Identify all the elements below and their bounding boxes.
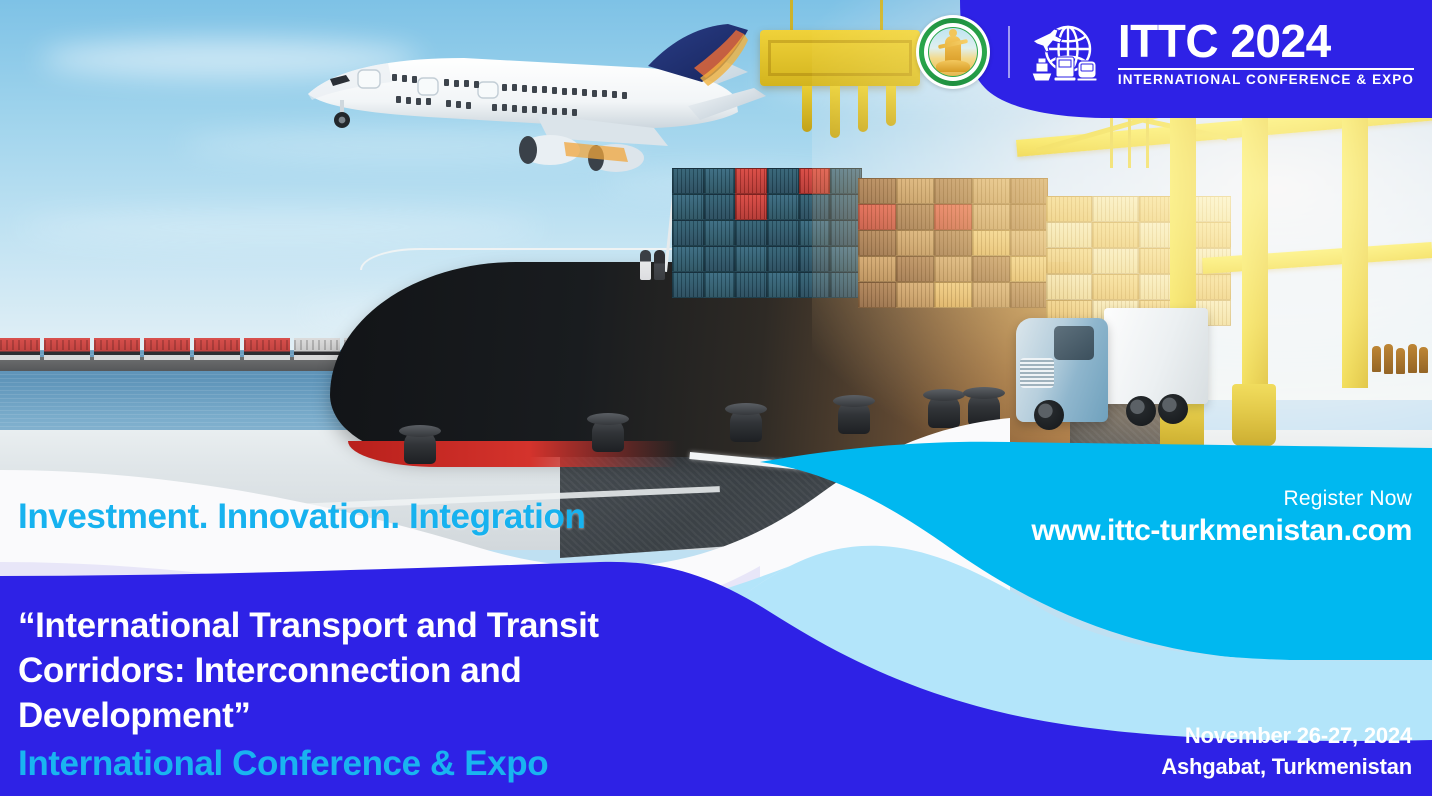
event-location: Ashgabat, Turkmenistan	[1161, 752, 1412, 782]
conference-subtitle: International Conference & Expo	[18, 742, 698, 787]
globe-transport-icon	[1028, 21, 1100, 83]
divider	[1008, 26, 1010, 78]
brand-subtitle: INTERNATIONAL CONFERENCE & EXPO	[1118, 73, 1414, 87]
conference-theme-line-1: “International Transport and Transit	[18, 604, 698, 649]
brand-rule	[1118, 68, 1414, 70]
tagline: Investment. Innovation. Integration	[18, 497, 585, 537]
register-group: Register Now www.ittc-turkmenistan.com	[1031, 486, 1412, 550]
ittc-2024-banner: ITTC 2024 INTERNATIONAL CONFERENCE & EXP…	[0, 0, 1432, 796]
event-details: November 26-27, 2024 Ashgabat, Turkmenis…	[1161, 721, 1412, 782]
brand-title: ITTC 2024	[1118, 18, 1414, 64]
conference-theme-line-3: Development”	[18, 694, 698, 739]
state-emblem-icon	[916, 15, 990, 89]
register-url[interactable]: www.ittc-turkmenistan.com	[1031, 512, 1412, 550]
conference-theme-line-2: Corridors: Interconnection and	[18, 649, 698, 694]
brand-lockup: ITTC 2024 INTERNATIONAL CONFERENCE & EXP…	[1118, 18, 1414, 87]
conference-title-block: “International Transport and Transit Cor…	[18, 604, 698, 787]
event-dates: November 26-27, 2024	[1161, 721, 1412, 751]
register-label: Register Now	[1031, 486, 1412, 512]
header-brand-group: ITTC 2024 INTERNATIONAL CONFERENCE & EXP…	[916, 14, 1414, 90]
